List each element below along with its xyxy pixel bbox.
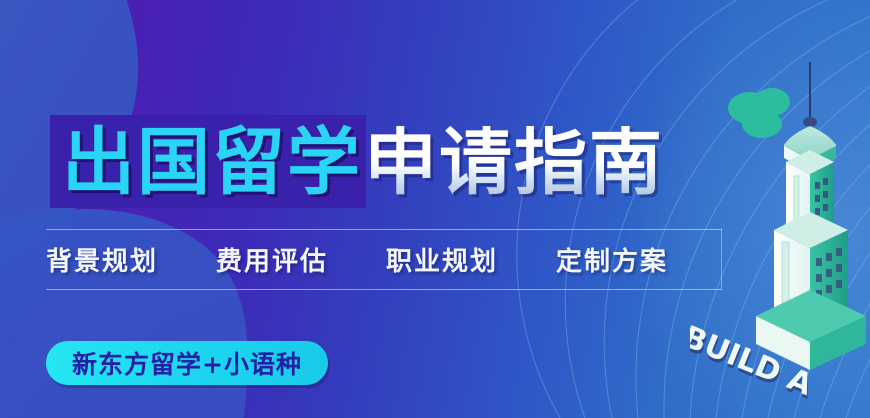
- title-rest-text: 申请指南: [364, 126, 664, 199]
- feature-item-0: 背景规划: [46, 241, 158, 278]
- isometric-skyscraper-illustration: BUILD A BUILD A: [690, 40, 870, 418]
- feature-item-1: 费用评估: [216, 241, 328, 278]
- divider-top: [46, 229, 722, 230]
- teal-cloud-shape: [728, 88, 790, 138]
- feature-item-2: 职业规划: [386, 241, 498, 278]
- promo-banner: 出国留学 申请指南 背景规划 费用评估 职业规划 定制方案 新东方留学+小语种: [0, 0, 870, 418]
- feature-item-3: 定制方案: [556, 241, 668, 278]
- building-antenna: [803, 62, 817, 127]
- brand-badge[interactable]: 新东方留学+小语种: [46, 341, 328, 385]
- feature-list: 背景规划 费用评估 职业规划 定制方案: [46, 231, 722, 288]
- divider-bottom: [46, 289, 722, 290]
- title-highlight-text: 出国留学: [62, 126, 362, 199]
- brand-badge-label: 新东方留学+小语种: [72, 345, 302, 381]
- page-title: 出国留学 申请指南: [62, 112, 762, 212]
